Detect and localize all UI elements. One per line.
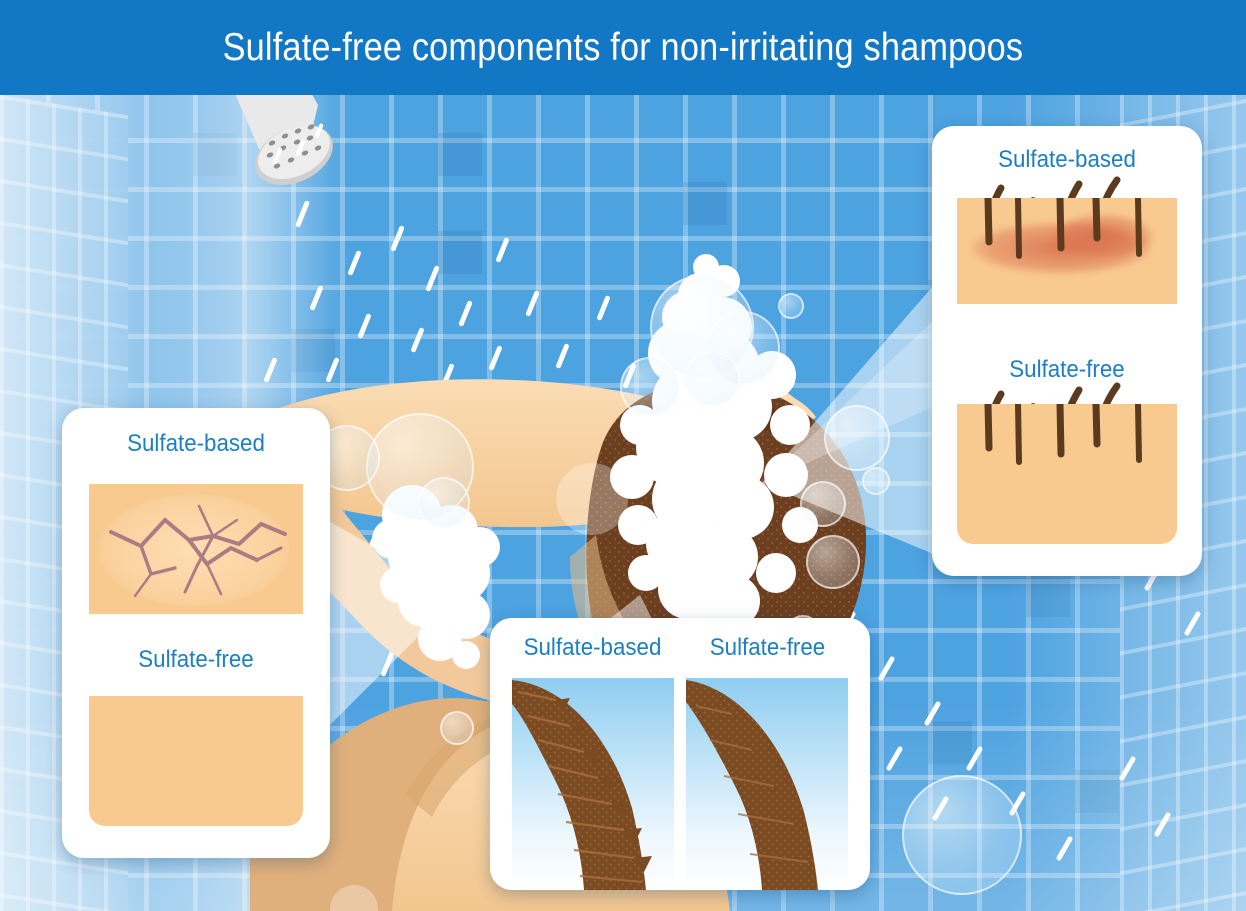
scalp-comparison-card[interactable]: Sulfate-based: [932, 126, 1202, 576]
header-banner: Sulfate-free components for non-irritati…: [0, 0, 1246, 95]
scalp-hair-roots-healthy: [957, 404, 1177, 544]
scalp-hair-roots-irritated: [957, 198, 1177, 304]
page-title: Sulfate-free components for non-irritati…: [223, 26, 1024, 70]
skin-smooth-panel: [89, 696, 303, 826]
skin-cracks: [89, 484, 303, 614]
strand-smooth-panel: [686, 678, 848, 890]
infographic-poster: Sulfate-free components for non-irritati…: [0, 0, 1246, 911]
card-panel-label: Sulfate-free: [71, 646, 320, 674]
damaged-hair-shaft: [512, 678, 674, 890]
skin-cracked-panel: [89, 484, 303, 614]
strand-comparison-card[interactable]: Sulfate-based Sulfate-free: [490, 618, 870, 890]
smooth-hair-shaft: [686, 678, 848, 890]
card-panel-label: Sulfate-based: [71, 430, 320, 458]
card-panel-label: Sulfate-based: [518, 634, 668, 662]
skin-comparison-card[interactable]: Sulfate-based Sulfate-free: [62, 408, 330, 858]
strand-damaged-panel: [512, 678, 674, 890]
card-panel-label: Sulfate-free: [693, 634, 843, 662]
